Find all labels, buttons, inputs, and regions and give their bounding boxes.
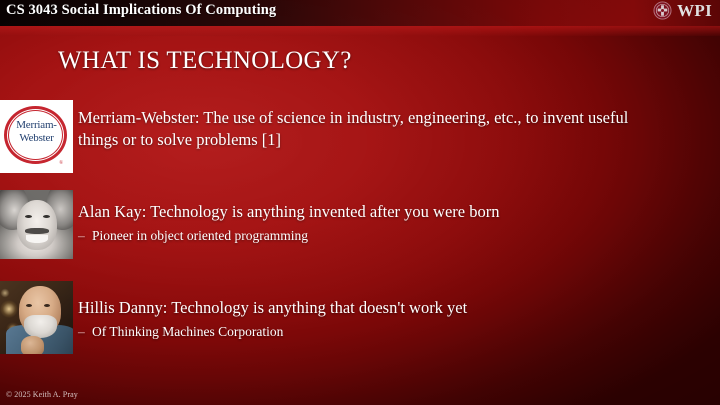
mw-registered-mark: ® bbox=[59, 161, 63, 166]
bullet-text-merriam-webster: Merriam-Webster: The use of science in i… bbox=[78, 107, 648, 151]
bullet-row-hillis-danny: Hillis Danny: Technology is anything tha… bbox=[0, 281, 720, 355]
bullet-sub-text: Of Thinking Machines Corporation bbox=[92, 324, 283, 339]
bullet-row-alan-kay: Alan Kay: Technology is anything invente… bbox=[0, 190, 720, 260]
bullet-main-text: Alan Kay: Technology is anything invente… bbox=[78, 201, 658, 223]
wpi-wordmark: WPI bbox=[677, 1, 712, 20]
hillis-danny-portrait-image bbox=[0, 281, 73, 354]
bullet-text-hillis-danny: Hillis Danny: Technology is anything tha… bbox=[78, 297, 658, 341]
portrait-hand bbox=[21, 336, 44, 354]
bullet-text-alan-kay: Alan Kay: Technology is anything invente… bbox=[78, 201, 658, 245]
bullet-main-text: Hillis Danny: Technology is anything tha… bbox=[78, 297, 658, 319]
portrait-mustache bbox=[25, 228, 49, 234]
portrait-beard bbox=[24, 315, 57, 338]
bullet-row-merriam-webster: Merriam- Webster ® Merriam-Webster: The … bbox=[0, 100, 720, 174]
bullet-sub-text: Pioneer in object oriented programming bbox=[92, 228, 308, 243]
wpi-logo: WPI bbox=[653, 1, 712, 20]
portrait-eye-left bbox=[26, 304, 32, 307]
sub-bullet-dash-icon: – bbox=[78, 322, 92, 341]
mw-wordmark-line2: Webster bbox=[0, 132, 73, 145]
portrait-smile bbox=[26, 235, 48, 243]
bullet-sub-item: –Pioneer in object oriented programming bbox=[78, 226, 658, 245]
copyright-footer: © 2025 Keith A. Pray bbox=[6, 390, 78, 399]
slide-canvas: CS 3043 Social Implications Of Computing… bbox=[0, 0, 720, 405]
merriam-webster-logo-icon: Merriam- Webster ® bbox=[0, 100, 73, 173]
hillis-danny-photo-thumb bbox=[0, 281, 73, 354]
portrait-eye-right bbox=[43, 215, 50, 218]
alan-kay-portrait-image bbox=[0, 190, 73, 259]
bullet-sub-item: –Of Thinking Machines Corporation bbox=[78, 322, 658, 341]
course-title: CS 3043 Social Implications Of Computing bbox=[6, 2, 276, 19]
sub-bullet-dash-icon: – bbox=[78, 226, 92, 245]
mw-wordmark: Merriam- Webster bbox=[0, 119, 73, 145]
merriam-webster-logo-thumb: Merriam- Webster ® bbox=[0, 100, 73, 173]
portrait-eye-left bbox=[25, 215, 32, 218]
wpi-seal-icon bbox=[653, 1, 672, 20]
slide-title: WHAT IS TECHNOLOGY? bbox=[58, 47, 352, 75]
slide-header-bar: CS 3043 Social Implications Of Computing… bbox=[0, 0, 720, 26]
header-glow-divider bbox=[0, 26, 720, 36]
portrait-eye-right bbox=[44, 304, 50, 307]
bullet-main-text: Merriam-Webster: The use of science in i… bbox=[78, 107, 648, 151]
mw-wordmark-line1: Merriam- bbox=[0, 119, 73, 132]
alan-kay-photo-thumb bbox=[0, 190, 73, 259]
